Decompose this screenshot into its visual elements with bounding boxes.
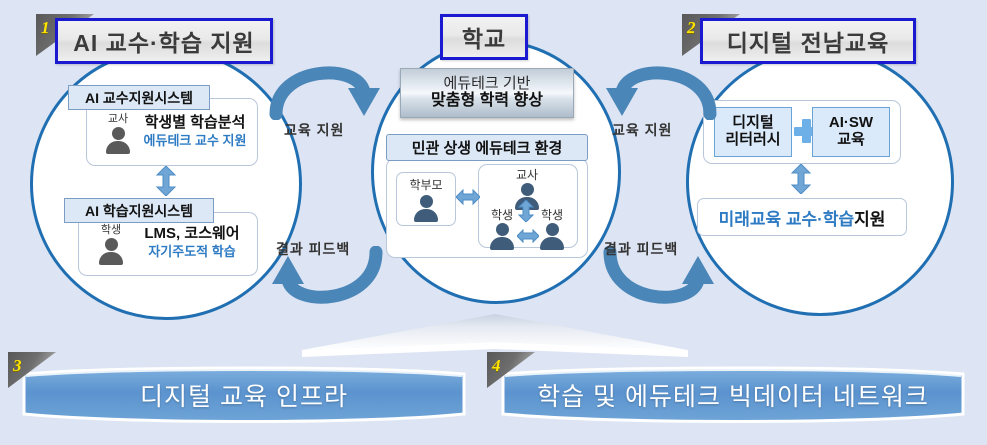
left-teacher-role: 교사 bbox=[96, 110, 140, 126]
center-student-right-label: 학생 bbox=[531, 206, 573, 223]
future-education-black: 지원 bbox=[854, 205, 885, 230]
ai-sw-line1: AI·SW bbox=[829, 115, 873, 132]
center-goal-line2: 맞춤형 학력 향상 bbox=[431, 92, 543, 110]
badge-2-number: 2 bbox=[687, 18, 696, 38]
left-top-line1: 학생별 학습분석 bbox=[136, 114, 254, 133]
center-teacher-label: 교사 bbox=[503, 166, 551, 183]
connector-left-bottom-label: 결과 피드백 bbox=[276, 239, 350, 259]
student-left-person-icon bbox=[490, 223, 514, 250]
left-bottom-panel-header: AI 학습지원시스템 bbox=[64, 198, 214, 223]
right-circle bbox=[686, 48, 954, 316]
center-env-header: 민관 상생 에듀테크 환경 bbox=[386, 134, 588, 161]
parent-class-double-arrow bbox=[456, 188, 480, 211]
left-top-panel-header: AI 교수지원시스템 bbox=[68, 85, 210, 110]
digital-literacy-chip: 디지털 리터러시 bbox=[714, 107, 792, 157]
badge-1-number: 1 bbox=[41, 18, 50, 38]
left-bottom-line2: 자기주도적 학습 bbox=[132, 244, 252, 260]
left-bottom-text-block: LMS, 코스웨어 자기주도적 학습 bbox=[132, 225, 252, 260]
digital-literacy-line2: 리터러시 bbox=[725, 132, 780, 149]
left-top-line2: 에듀테크 교수 지원 bbox=[136, 133, 254, 149]
connector-right-top-label: 교육 지원 bbox=[612, 120, 672, 140]
right-section-title: 디지털 전남교육 bbox=[700, 18, 916, 64]
teacher-person-icon bbox=[106, 127, 130, 154]
right-vertical-double-arrow bbox=[790, 164, 812, 194]
left-bottom-line1: LMS, 코스웨어 bbox=[132, 225, 252, 244]
ai-sw-chip: AI·SW 교육 bbox=[812, 107, 890, 157]
center-goal-banner: 에듀테크 기반 맞춤형 학력 향상 bbox=[400, 68, 574, 118]
left-teacher-figure: 교사 bbox=[96, 110, 140, 159]
student-person-icon bbox=[99, 238, 123, 265]
parent-person-icon bbox=[414, 195, 438, 222]
center-section-title: 학교 bbox=[440, 14, 528, 60]
platform-digital-infra: 디지털 교육 인프라 bbox=[18, 364, 470, 426]
platform-bigdata-network: 학습 및 에듀테크 빅데이터 네트워크 bbox=[497, 364, 969, 426]
left-top-text-block: 학생별 학습분석 에듀테크 교수 지원 bbox=[136, 114, 254, 149]
future-education-box: 미래교육 교수·학습 지원 bbox=[697, 198, 907, 236]
connector-left-top-arrow bbox=[268, 48, 384, 125]
student-student-double-arrow bbox=[517, 228, 539, 249]
student-right-person-icon bbox=[540, 223, 564, 250]
left-student-role: 학생 bbox=[88, 221, 134, 237]
diagram-canvas: 1 AI 교수·학습 지원 AI 교수지원시스템 교사 학생별 학습분석 에듀테… bbox=[0, 0, 987, 445]
left-vertical-double-arrow bbox=[155, 166, 177, 196]
left-student-figure: 학생 bbox=[88, 221, 134, 270]
parent-label: 학부모 bbox=[409, 176, 442, 193]
left-section-title: AI 교수·학습 지원 bbox=[55, 18, 273, 64]
center-goal-line1: 에듀테크 기반 bbox=[444, 76, 531, 93]
future-education-blue: 미래교육 교수·학습 bbox=[719, 205, 855, 230]
digital-literacy-line1: 디지털 bbox=[732, 115, 773, 132]
connector-right-bottom-label: 결과 피드백 bbox=[604, 239, 678, 259]
center-student-left-label: 학생 bbox=[481, 206, 523, 223]
ai-sw-line2: 교육 bbox=[837, 132, 865, 149]
parent-box: 학부모 bbox=[396, 172, 456, 226]
connector-left-top-label: 교육 지원 bbox=[284, 120, 344, 140]
